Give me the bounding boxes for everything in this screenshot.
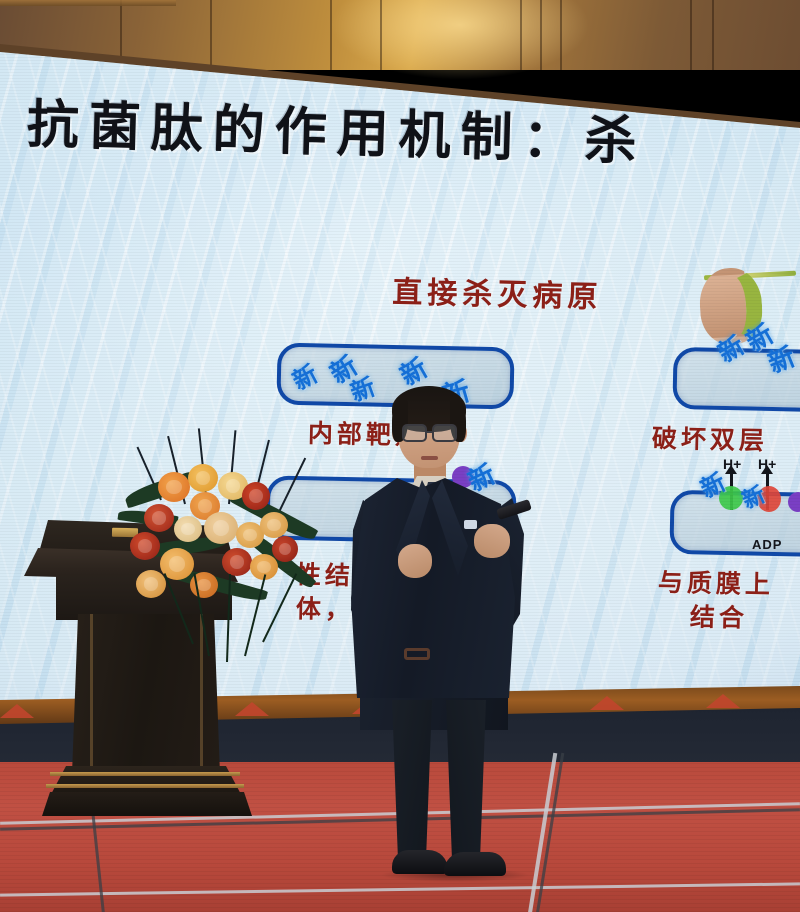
flower-rose [242, 482, 270, 510]
flower-arrangement [132, 448, 332, 648]
podium-gold-band [0, 0, 176, 6]
speaker-suit-jacket [351, 478, 515, 698]
podium-base-lower [42, 792, 252, 816]
flower-gerbera [158, 472, 190, 502]
speaker-right-shoe [444, 852, 506, 876]
flower-rose [188, 464, 218, 492]
speaker-left-hand [398, 544, 432, 578]
flower-rose [144, 504, 174, 532]
flower-rose [204, 512, 238, 544]
flower-rose [260, 512, 288, 538]
speaker-right-hand [474, 524, 510, 558]
speaker-lapel-badge [464, 520, 477, 529]
flower-rose [222, 548, 252, 576]
speaker-belt-buckle [404, 648, 430, 660]
flower-rose [272, 536, 298, 562]
flower-rose [130, 532, 160, 560]
photo-scene: 抗菌肽的作用机制：杀 直接杀灭病原 新 新 新 新 新 内部靶点 新 新 新 破… [0, 0, 800, 912]
flower-rose [136, 570, 166, 598]
speaker-mouth [421, 456, 438, 460]
glasses-icon [402, 424, 427, 442]
podium-base-gold-trim [50, 772, 240, 776]
podium-base-gold-trim [46, 784, 244, 788]
wall-light-glow [330, 0, 590, 80]
glasses-bridge [427, 431, 433, 433]
flower-rose [174, 516, 202, 542]
speaker-left-shoe [392, 850, 448, 874]
glasses-icon [432, 424, 457, 442]
